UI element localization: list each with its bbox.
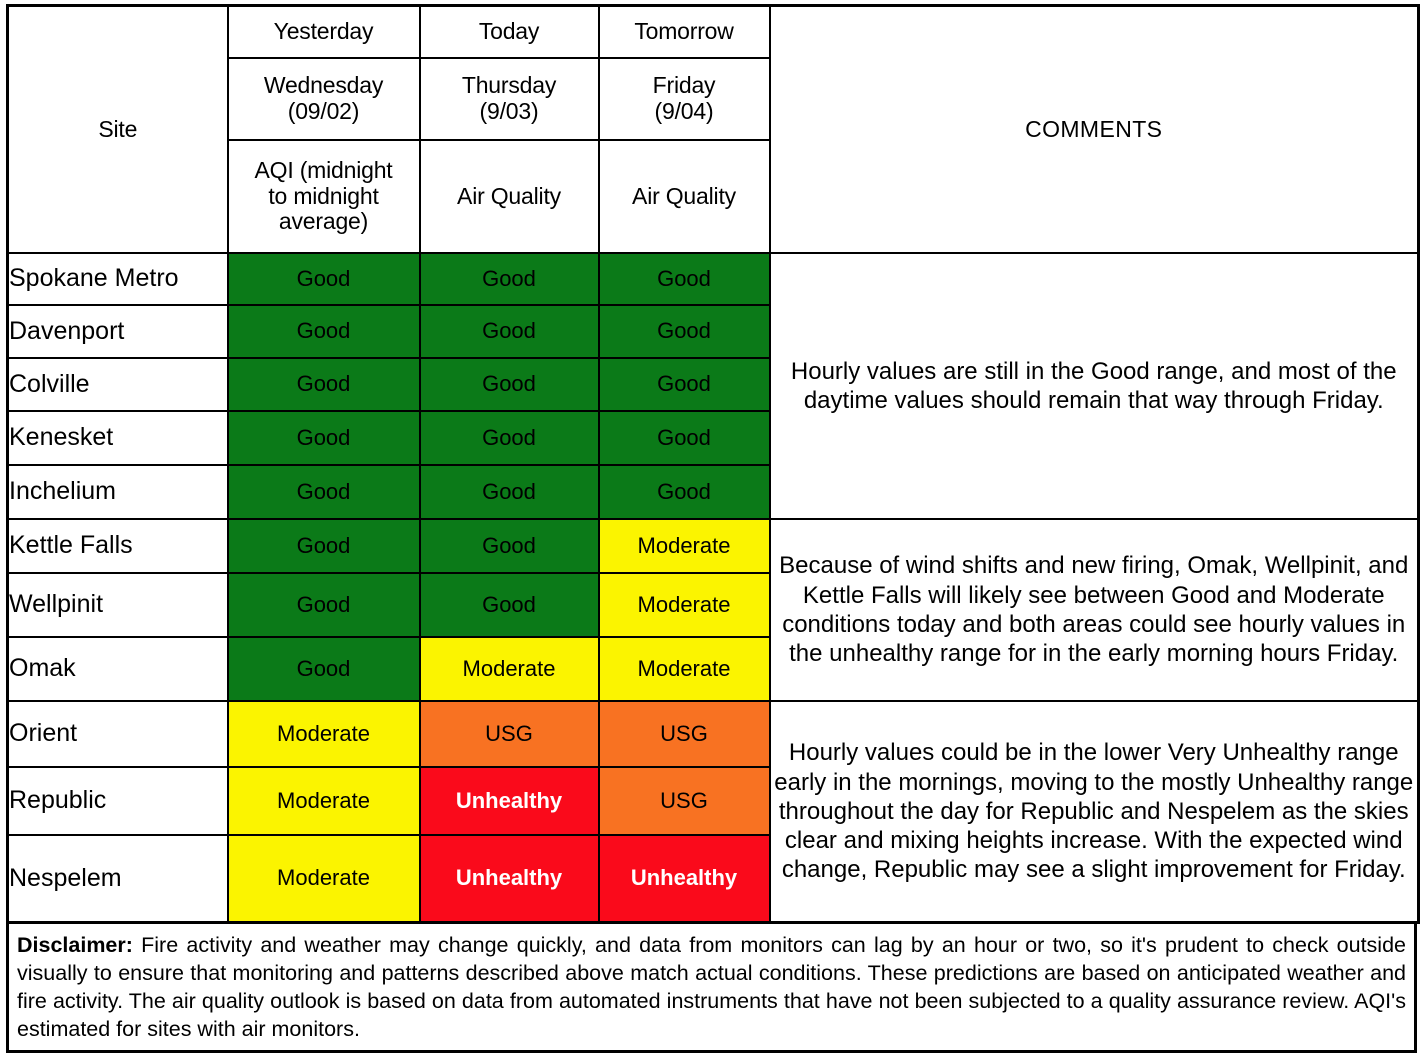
aqi-tomorrow: Good: [599, 465, 770, 519]
comment-group-unhealthy: Hourly values could be in the lower Very…: [770, 701, 1419, 923]
site-name: Colville: [8, 358, 228, 411]
aqi-today: Good: [420, 411, 599, 465]
site-name: Wellpinit: [8, 573, 228, 637]
aqi-tomorrow: USG: [599, 767, 770, 835]
aqi-tomorrow: Unhealthy: [599, 835, 770, 923]
header-yesterday-date-line2: (09/02): [229, 99, 419, 125]
comment-group-mixed: Because of wind shifts and new firing, O…: [770, 519, 1419, 701]
aqi-today: Good: [420, 573, 599, 637]
site-name: Davenport: [8, 305, 228, 358]
aqi-today: USG: [420, 701, 599, 767]
site-name: Kettle Falls: [8, 519, 228, 573]
header-today-date-line2: (9/03): [421, 99, 598, 125]
header-today-date-line1: Thursday: [421, 73, 598, 99]
header-today-date: Thursday (9/03): [420, 58, 599, 140]
disclaimer-text: Fire activity and weather may change qui…: [17, 933, 1406, 1041]
aqi-tomorrow: Good: [599, 411, 770, 465]
air-quality-outlook-sheet: Site Yesterday Today Tomorrow COMMENTS W…: [0, 0, 1423, 1043]
header-aqi-line3: average): [229, 209, 419, 235]
aqi-tomorrow: Good: [599, 305, 770, 358]
aqi-today: Unhealthy: [420, 767, 599, 835]
aqi-yesterday: Good: [228, 411, 420, 465]
header-yesterday: Yesterday: [228, 6, 420, 59]
aqi-yesterday: Good: [228, 358, 420, 411]
table-row: Orient Moderate USG USG Hourly values co…: [8, 701, 1419, 767]
disclaimer-label: Disclaimer:: [17, 933, 133, 957]
air-quality-table: Site Yesterday Today Tomorrow COMMENTS W…: [6, 4, 1420, 924]
header-tomorrow-date-line1: Friday: [600, 73, 769, 99]
aqi-tomorrow: Moderate: [599, 637, 770, 701]
aqi-tomorrow: Good: [599, 358, 770, 411]
aqi-yesterday: Good: [228, 465, 420, 519]
header-yesterday-date-line1: Wednesday: [229, 73, 419, 99]
header-tomorrow-date: Friday (9/04): [599, 58, 770, 140]
aqi-today: Unhealthy: [420, 835, 599, 923]
site-name: Spokane Metro: [8, 253, 228, 305]
disclaimer: Disclaimer: Fire activity and weather ma…: [6, 924, 1417, 1053]
aqi-yesterday: Good: [228, 637, 420, 701]
aqi-today: Good: [420, 253, 599, 305]
aqi-tomorrow: USG: [599, 701, 770, 767]
header-today-metric: Air Quality: [420, 140, 599, 253]
header-site: Site: [8, 6, 228, 254]
header-yesterday-date: Wednesday (09/02): [228, 58, 420, 140]
header-tomorrow: Tomorrow: [599, 6, 770, 59]
aqi-yesterday: Moderate: [228, 767, 420, 835]
aqi-tomorrow: Moderate: [599, 573, 770, 637]
header-row-relative-day: Site Yesterday Today Tomorrow COMMENTS: [8, 6, 1419, 59]
aqi-today: Good: [420, 519, 599, 573]
aqi-yesterday: Good: [228, 253, 420, 305]
table-row: Spokane Metro Good Good Good Hourly valu…: [8, 253, 1419, 305]
header-comments: COMMENTS: [770, 6, 1419, 254]
header-aqi-line1: AQI (midnight: [229, 158, 419, 184]
site-name: Kenesket: [8, 411, 228, 465]
site-name: Nespelem: [8, 835, 228, 923]
comment-group-good: Hourly values are still in the Good rang…: [770, 253, 1419, 519]
aqi-yesterday: Moderate: [228, 701, 420, 767]
aqi-yesterday: Good: [228, 305, 420, 358]
aqi-today: Good: [420, 305, 599, 358]
header-aqi-line2: to midnight: [229, 184, 419, 210]
header-today: Today: [420, 6, 599, 59]
header-yesterday-metric: AQI (midnight to midnight average): [228, 140, 420, 253]
site-name: Inchelium: [8, 465, 228, 519]
header-tomorrow-date-line2: (9/04): [600, 99, 769, 125]
aqi-yesterday: Moderate: [228, 835, 420, 923]
aqi-tomorrow: Moderate: [599, 519, 770, 573]
aqi-today: Good: [420, 465, 599, 519]
aqi-yesterday: Good: [228, 519, 420, 573]
header-tomorrow-metric: Air Quality: [599, 140, 770, 253]
aqi-today: Moderate: [420, 637, 599, 701]
site-name: Republic: [8, 767, 228, 835]
site-name: Orient: [8, 701, 228, 767]
aqi-yesterday: Good: [228, 573, 420, 637]
aqi-tomorrow: Good: [599, 253, 770, 305]
aqi-today: Good: [420, 358, 599, 411]
site-name: Omak: [8, 637, 228, 701]
table-row: Kettle Falls Good Good Moderate Because …: [8, 519, 1419, 573]
